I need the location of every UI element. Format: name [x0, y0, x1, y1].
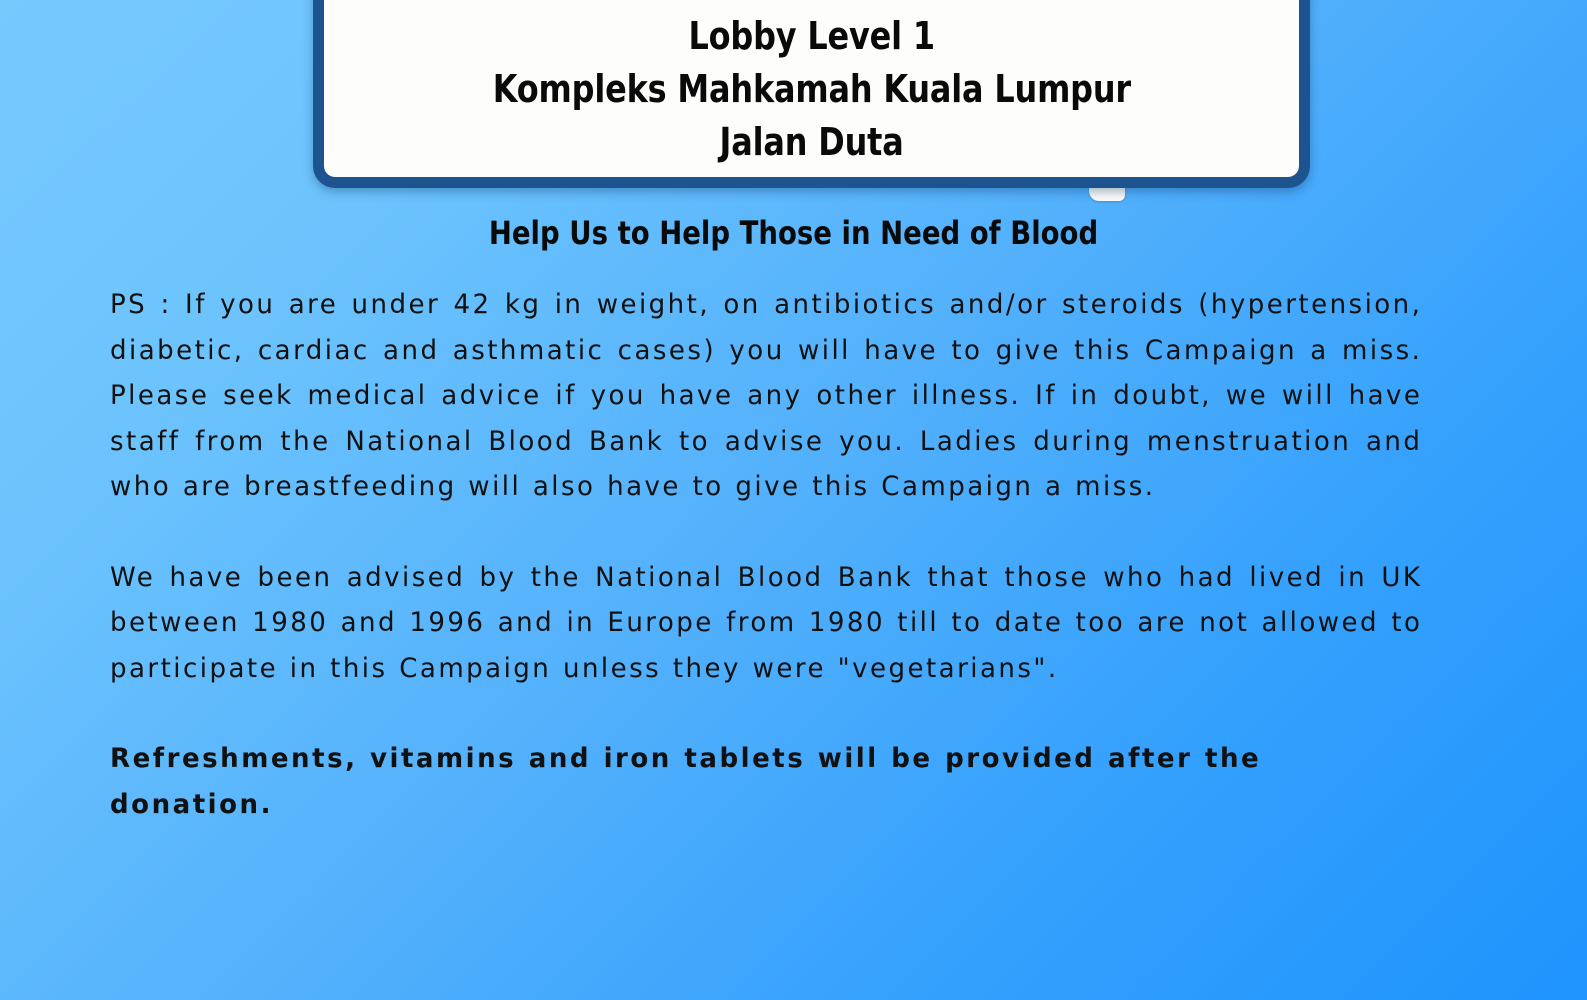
venue-line-2: Kompleks Mahkamah Kuala Lumpur — [492, 63, 1130, 116]
paragraph-refreshments-note: Refreshments, vitamins and iron tablets … — [110, 736, 1422, 827]
venue-address-card: Lobby Level 1 Kompleks Mahkamah Kuala Lu… — [313, 0, 1310, 188]
blood-donation-poster: Lobby Level 1 Kompleks Mahkamah Kuala Lu… — [0, 0, 1587, 1000]
paragraph-travel-deferral-note: We have been advised by the National Blo… — [110, 555, 1422, 692]
body-copy: PS : If you are under 42 kg in weight, o… — [110, 282, 1470, 827]
venue-line-3: Jalan Duta — [719, 116, 903, 169]
page-title: Help Us to Help Those in Need of Blood — [111, 210, 1476, 256]
venue-line-1: Lobby Level 1 — [688, 10, 934, 63]
paragraph-ps-note: PS : If you are under 42 kg in weight, o… — [110, 282, 1422, 510]
